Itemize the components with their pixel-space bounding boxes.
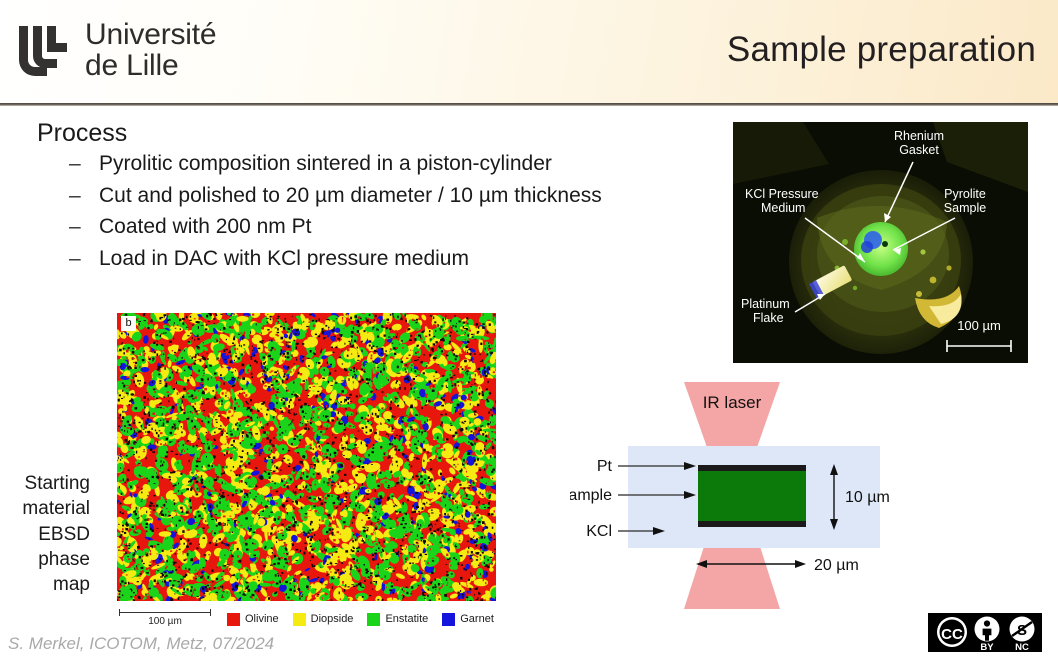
legend-item-diopside: Diopside [293, 613, 354, 626]
scalebar-tick-right [210, 609, 211, 616]
dac-schematic-graphic: IR laser Pt Sample KCl 10 µm 20 µm [570, 378, 910, 613]
list-item: – Pyrolitic composition sintered in a pi… [69, 152, 602, 176]
photo-label-kcl-line1: KCl Pressure [745, 187, 819, 201]
process-bullet-list: – Pyrolitic composition sintered in a pi… [69, 152, 602, 278]
bullet-marker: – [69, 215, 99, 239]
scalebar-line [119, 612, 211, 613]
sample-block [698, 471, 806, 521]
creative-commons-license-badge[interactable]: CC BY S NC [925, 610, 1045, 655]
legend-item-enstatite: Enstatite [367, 613, 428, 626]
university-logo: Université de Lille [13, 20, 216, 82]
scalebar-tick-left [119, 609, 120, 616]
legend-swatch-diopside [293, 613, 306, 626]
legend-item-olivine: Olivine [227, 613, 279, 626]
legend-swatch-garnet [442, 613, 455, 626]
legend-item-garnet: Garnet [442, 613, 494, 626]
list-item: – Load in DAC with KCl pressure medium [69, 247, 602, 271]
photo-scalebar-label: 100 µm [957, 318, 1001, 333]
photo-label-rhenium-gasket-line1: Rhenium [894, 129, 944, 143]
dac-photo-graphic: Rhenium Gasket KCl Pressure Medium Pyrol… [733, 122, 1028, 363]
legend-swatch-olivine [227, 613, 240, 626]
ebsd-scalebar: 100 µm [117, 610, 213, 628]
bullet-text: Cut and polished to 20 µm diameter / 10 … [99, 184, 602, 208]
universite-de-lille-logo-icon [13, 20, 75, 82]
list-item: – Coated with 200 nm Pt [69, 215, 602, 239]
legend-label-enstatite: Enstatite [385, 613, 428, 625]
ebsd-phase-map-image: b [117, 313, 496, 601]
bullet-text: Coated with 200 nm Pt [99, 215, 311, 239]
scalebar-label: 100 µm [117, 616, 213, 627]
legend-swatch-enstatite [367, 613, 380, 626]
list-item: – Cut and polished to 20 µm diameter / 1… [69, 184, 602, 208]
legend-label-diopside: Diopside [311, 613, 354, 625]
bullet-marker: – [69, 152, 99, 176]
photo-label-kcl-line2: Medium [761, 201, 805, 215]
photo-label-platinum-line2: Flake [753, 311, 784, 325]
logo-line-2: de Lille [85, 51, 216, 82]
legend-label-olivine: Olivine [245, 613, 279, 625]
bullet-marker: – [69, 247, 99, 271]
panel-label: b [121, 316, 136, 331]
photo-label-rhenium-gasket-line2: Gasket [899, 143, 939, 157]
photo-label-platinum-line1: Platinum [741, 297, 790, 311]
ir-laser-label: IR laser [703, 393, 762, 412]
dac-schematic-diagram: IR laser Pt Sample KCl 10 µm 20 µm [570, 378, 910, 613]
ebsd-phase-map-figure: b 100 µm Olivine Diopside Enstatite Garn… [117, 313, 496, 630]
ebsd-map-caption: Starting material EBSD phase map [2, 471, 90, 597]
bullet-marker: – [69, 184, 99, 208]
photo-label-pyrolite-line2: Sample [944, 201, 986, 215]
diamond-anvil-cell-photo: Rhenium Gasket KCl Pressure Medium Pyrol… [733, 122, 1028, 363]
photo-label-pyrolite-line1: Pyrolite [944, 187, 986, 201]
section-heading: Process [37, 119, 127, 148]
legend-label-garnet: Garnet [460, 613, 494, 625]
header-divider [0, 103, 1058, 106]
logo-line-1: Université [85, 20, 216, 51]
ebsd-speckle-graphic [117, 313, 496, 601]
page-title: Sample preparation [727, 30, 1036, 70]
bullet-text: Pyrolitic composition sintered in a pist… [99, 152, 552, 176]
schematic-label-pt: Pt [597, 458, 613, 475]
schematic-label-sample: Sample [570, 487, 612, 504]
bullet-text: Load in DAC with KCl pressure medium [99, 247, 469, 271]
footer-credit: S. Merkel, ICOTOM, Metz, 07/2024 [8, 634, 274, 654]
schematic-thickness-label: 10 µm [845, 489, 890, 506]
schematic-label-kcl: KCl [586, 523, 612, 540]
cc-by-nc-icon: CC BY S NC [925, 610, 1045, 655]
university-logo-text: Université de Lille [85, 20, 216, 82]
schematic-diameter-label: 20 µm [814, 557, 859, 574]
ebsd-legend: 100 µm Olivine Diopside Enstatite Garnet [117, 608, 496, 630]
